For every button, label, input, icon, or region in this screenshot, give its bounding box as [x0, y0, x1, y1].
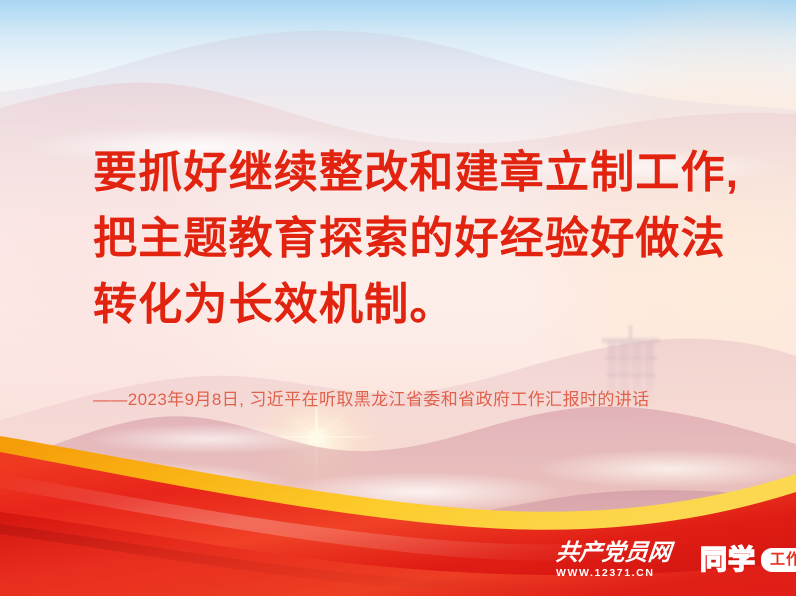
site-url-text: WWW.12371.CN: [556, 567, 655, 579]
studio-badge: 工作室: [761, 548, 796, 572]
quote-attribution: ——2023年9月8日, 习近平在听取黑龙江省委和省政府工作汇报时的讲话: [93, 385, 650, 410]
quote-line-3: 转化为长效机制。: [93, 272, 753, 338]
studio-name-text: 同学: [700, 545, 756, 575]
quote-line-2: 把主题教育探索的好经验好做法: [93, 206, 753, 272]
quote-block: 要抓好继续整改和建章立制工作, 把主题教育探索的好经验好做法 转化为长效机制。: [93, 140, 753, 338]
site-logo[interactable]: 共产党员网 WWW.12371.CN: [556, 541, 671, 579]
studio-logo[interactable]: 同学 工作室: [700, 545, 796, 575]
site-name-text: 共产党员网: [555, 541, 673, 565]
quote-line-1: 要抓好继续整改和建章立制工作,: [93, 140, 753, 206]
poster-canvas: 要抓好继续整改和建章立制工作, 把主题教育探索的好经验好做法 转化为长效机制。 …: [0, 0, 796, 596]
logo-block[interactable]: 共产党员网 WWW.12371.CN 同学 工作室: [556, 541, 796, 579]
